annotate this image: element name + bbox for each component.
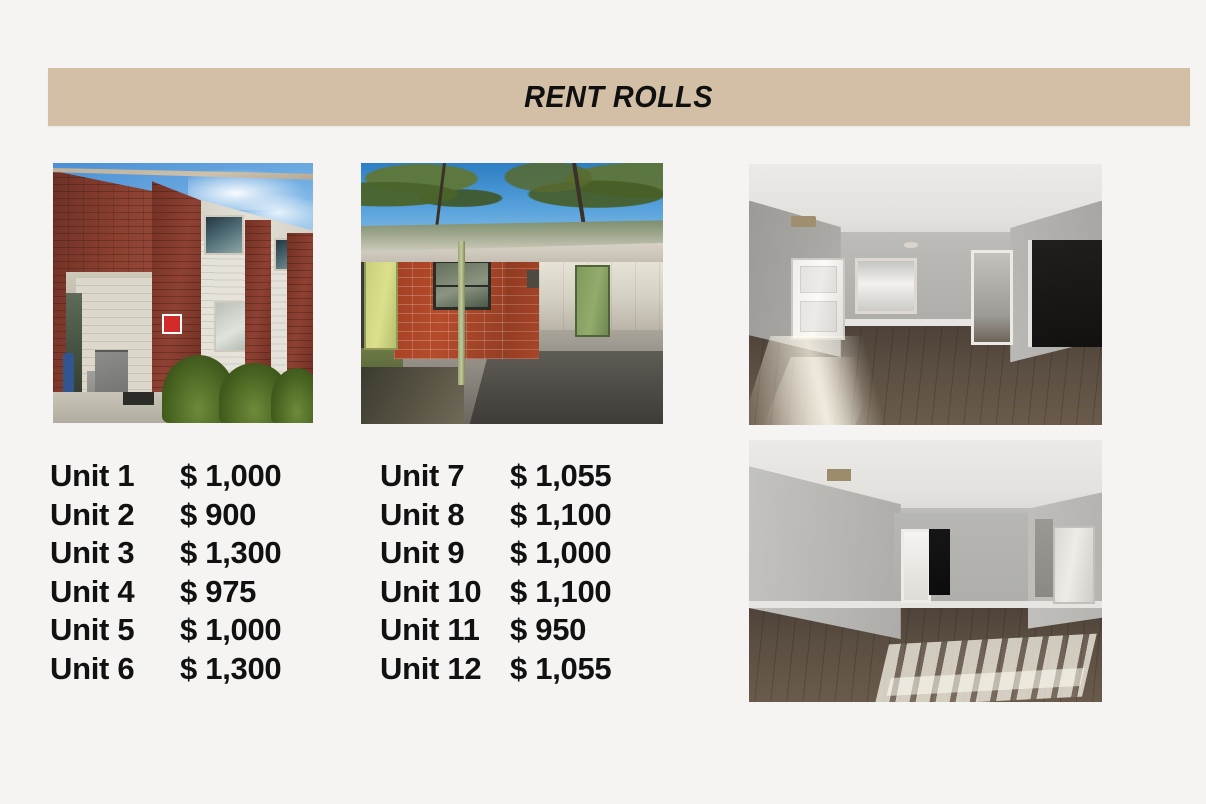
unit-amount: $ 1,000 (180, 612, 281, 648)
interior-door (1053, 526, 1096, 603)
window (204, 215, 244, 255)
photo-exterior-house-content (361, 163, 663, 424)
unit-label: Unit 11 (380, 612, 510, 648)
ceiling-vent (827, 469, 852, 481)
living-room-window (855, 258, 917, 314)
shrub (271, 368, 313, 423)
unit-label: Unit 4 (50, 574, 180, 610)
unit-label: Unit 9 (380, 535, 510, 571)
unit-label: Unit 6 (50, 651, 180, 687)
photo-interior-living (749, 164, 1102, 425)
dark-doorway (929, 529, 950, 595)
photo-interior-bedroom-content (749, 440, 1102, 702)
unit-label: Unit 8 (380, 497, 510, 533)
green-door-left (364, 257, 398, 350)
unit-amount: $ 1,100 (510, 574, 611, 610)
hallway (1035, 519, 1053, 598)
door-mat (123, 392, 154, 405)
ceiling-light (904, 242, 918, 247)
door-panel (800, 266, 837, 293)
ground-shadow (361, 367, 464, 424)
rent-roll-row: Unit 12 $ 1,055 (380, 651, 710, 690)
unit-label: Unit 12 (380, 651, 510, 687)
unit-label: Unit 1 (50, 458, 180, 494)
photo-interior-living-content (749, 164, 1102, 425)
unit-amount: $ 1,000 (510, 535, 611, 571)
rent-roll-row: Unit 9 $ 1,000 (380, 535, 710, 574)
utility-meter (527, 270, 539, 288)
ceiling-vent (791, 216, 816, 226)
unit-amount: $ 1,300 (180, 535, 281, 571)
rent-roll-row: Unit 8 $ 1,100 (380, 497, 710, 536)
unit-amount: $ 950 (510, 612, 586, 648)
closet-opening (971, 250, 1012, 345)
unit-label: Unit 10 (380, 574, 510, 610)
rent-roll-row: Unit 3 $ 1,300 (50, 535, 380, 574)
rent-roll-row: Unit 10 $ 1,100 (380, 574, 710, 613)
open-doorway (901, 529, 932, 603)
photo-exterior-apartment (53, 163, 313, 423)
rent-rolls-banner: RENT ROLLS (48, 68, 1190, 126)
door-panel (800, 301, 837, 333)
rent-roll-row: Unit 4 $ 975 (50, 574, 380, 613)
rent-roll-column-1: Unit 1 $ 1,000 Unit 2 $ 900 Unit 3 $ 1,3… (50, 458, 380, 690)
asphalt-driveway (470, 351, 663, 424)
blue-object (63, 353, 73, 395)
unit-label: Unit 7 (380, 458, 510, 494)
page-title: RENT ROLLS (525, 79, 714, 115)
rent-roll-row: Unit 6 $ 1,300 (50, 651, 380, 690)
unit-label: Unit 3 (50, 535, 180, 571)
rent-roll-row: Unit 1 $ 1,000 (50, 458, 380, 497)
photo-exterior-house (361, 163, 663, 424)
dark-doorway (1028, 240, 1102, 347)
unit-amount: $ 1,055 (510, 651, 611, 687)
rent-roll-row: Unit 7 $ 1,055 (380, 458, 710, 497)
brick-wall-return (506, 252, 539, 359)
front-door (791, 258, 844, 340)
photo-interior-bedroom (749, 440, 1102, 702)
unit-amount: $ 1,300 (180, 651, 281, 687)
unit-amount: $ 900 (180, 497, 256, 533)
rent-roll-row: Unit 5 $ 1,000 (50, 612, 380, 651)
rent-roll-table: Unit 1 $ 1,000 Unit 2 $ 900 Unit 3 $ 1,3… (50, 458, 710, 690)
unit-amount: $ 1,055 (510, 458, 611, 494)
carport-post (458, 241, 466, 385)
rent-roll-column-2: Unit 7 $ 1,055 Unit 8 $ 1,100 Unit 9 $ 1… (380, 458, 710, 690)
red-sign (162, 314, 182, 334)
rent-roll-row: Unit 2 $ 900 (50, 497, 380, 536)
green-door-right (575, 265, 609, 337)
unit-label: Unit 5 (50, 612, 180, 648)
rent-roll-row: Unit 11 $ 950 (380, 612, 710, 651)
photo-exterior-apartment-content (53, 163, 313, 423)
unit-amount: $ 1,000 (180, 458, 281, 494)
unit-amount: $ 1,100 (510, 497, 611, 533)
unit-label: Unit 2 (50, 497, 180, 533)
unit-amount: $ 975 (180, 574, 256, 610)
